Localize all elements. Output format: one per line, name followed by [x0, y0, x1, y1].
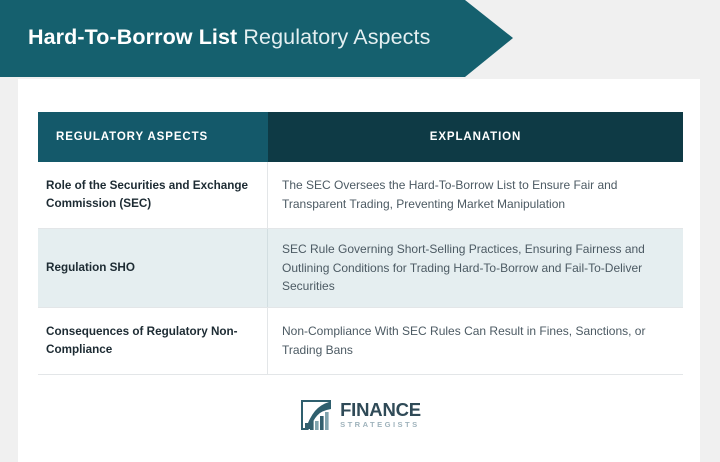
- row-explanation-cell: Non-Compliance With SEC Rules Can Result…: [268, 308, 683, 374]
- column-header-explanation: EXPLANATION: [268, 112, 683, 162]
- table-row: Consequences of Regulatory Non-Complianc…: [38, 308, 683, 375]
- regulatory-aspects-table: REGULATORY ASPECTS EXPLANATION Role of t…: [38, 112, 683, 375]
- brand-tagline: STRATEGISTS: [340, 421, 421, 429]
- table-header-row: REGULATORY ASPECTS EXPLANATION: [38, 112, 683, 162]
- header-banner: Hard-To-Borrow List Regulatory Aspects: [0, 0, 513, 78]
- page-title-light: Regulatory Aspects: [237, 25, 430, 49]
- row-aspect-cell: Role of the Securities and Exchange Comm…: [38, 162, 268, 228]
- row-explanation-text: Non-Compliance With SEC Rules Can Result…: [282, 322, 671, 360]
- table-body: Role of the Securities and Exchange Comm…: [38, 162, 683, 375]
- finance-strategists-chart-icon: [299, 399, 333, 431]
- page-title: Hard-To-Borrow List Regulatory Aspects: [28, 27, 430, 49]
- row-aspect-label: Role of the Securities and Exchange Comm…: [46, 177, 253, 213]
- table-row: Regulation SHO SEC Rule Governing Short-…: [38, 229, 683, 308]
- column-header-aspect-label: REGULATORY ASPECTS: [56, 131, 208, 143]
- row-aspect-label: Consequences of Regulatory Non-Complianc…: [46, 323, 253, 359]
- column-header-aspect: REGULATORY ASPECTS: [38, 112, 268, 162]
- row-aspect-cell: Regulation SHO: [38, 229, 268, 307]
- row-explanation-cell: SEC Rule Governing Short-Selling Practic…: [268, 229, 683, 307]
- row-explanation-cell: The SEC Oversees the Hard-To-Borrow List…: [268, 162, 683, 228]
- page-title-strong: Hard-To-Borrow List: [28, 25, 237, 49]
- table-header: REGULATORY ASPECTS EXPLANATION: [38, 112, 683, 162]
- column-header-explanation-label: EXPLANATION: [430, 131, 521, 143]
- row-aspect-cell: Consequences of Regulatory Non-Complianc…: [38, 308, 268, 374]
- row-aspect-label: Regulation SHO: [46, 259, 135, 277]
- row-explanation-text: The SEC Oversees the Hard-To-Borrow List…: [282, 176, 671, 214]
- brand-name: FINANCE: [340, 401, 421, 420]
- brand-logo: FINANCE STRATEGISTS: [0, 399, 720, 431]
- row-explanation-text: SEC Rule Governing Short-Selling Practic…: [282, 240, 671, 297]
- brand-wordmark: FINANCE STRATEGISTS: [340, 401, 421, 429]
- table-row: Role of the Securities and Exchange Comm…: [38, 162, 683, 229]
